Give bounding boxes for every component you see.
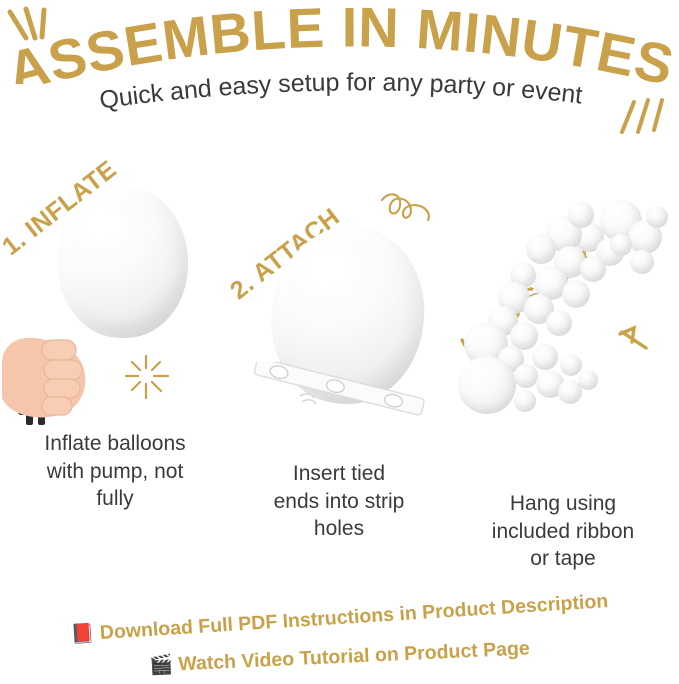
step-1-caption-line-1: Inflate balloons [2,430,228,458]
balloon-step-one [58,186,188,338]
page-subtitle-text: Quick and easy setup for any party or ev… [98,68,584,114]
step-1-caption-line-2: with pump, not [2,458,228,486]
closed-book-icon: 📕 [70,623,95,645]
step-1: 1. INFLATE Inflate balloons wi [2,150,228,450]
step-2-caption: Insert tied ends into strip holes [226,460,452,543]
step-3-caption: Hang using included ribbon or tape [450,490,676,573]
step-2-caption-line-3: holes [226,515,452,543]
footer-video-text: Watch Video Tutorial on Product Page [178,637,530,675]
step-2-caption-line-2: ends into strip [226,488,452,516]
hand-with-pump-icon [0,320,112,430]
step-3: 3. DISPLAY [450,150,676,450]
step-1-caption: Inflate balloons with pump, not fully [2,430,228,513]
step-2-caption-line-1: Insert tied [226,460,452,488]
clapper-board-icon: 🎬 [149,655,174,677]
infographic-canvas: ASSEMBLE IN MINUTES Quick and easy setup… [0,0,679,683]
step-1-caption-line-3: fully [2,485,228,513]
page-subtitle: Quick and easy setup for any party or ev… [0,58,679,114]
step-3-caption-line-2: included ribbon [450,518,676,546]
step-3-caption-line-3: or tape [450,545,676,573]
balloon-garland [450,194,676,444]
svg-text:Quick and easy setup for any p: Quick and easy setup for any party or ev… [98,68,584,114]
step-2: 2. ATTACH Insert tied ends into strip ho… [226,150,452,450]
balloon-decorating-strip-icon [248,362,428,422]
step-3-caption-line-1: Hang using [450,490,676,518]
